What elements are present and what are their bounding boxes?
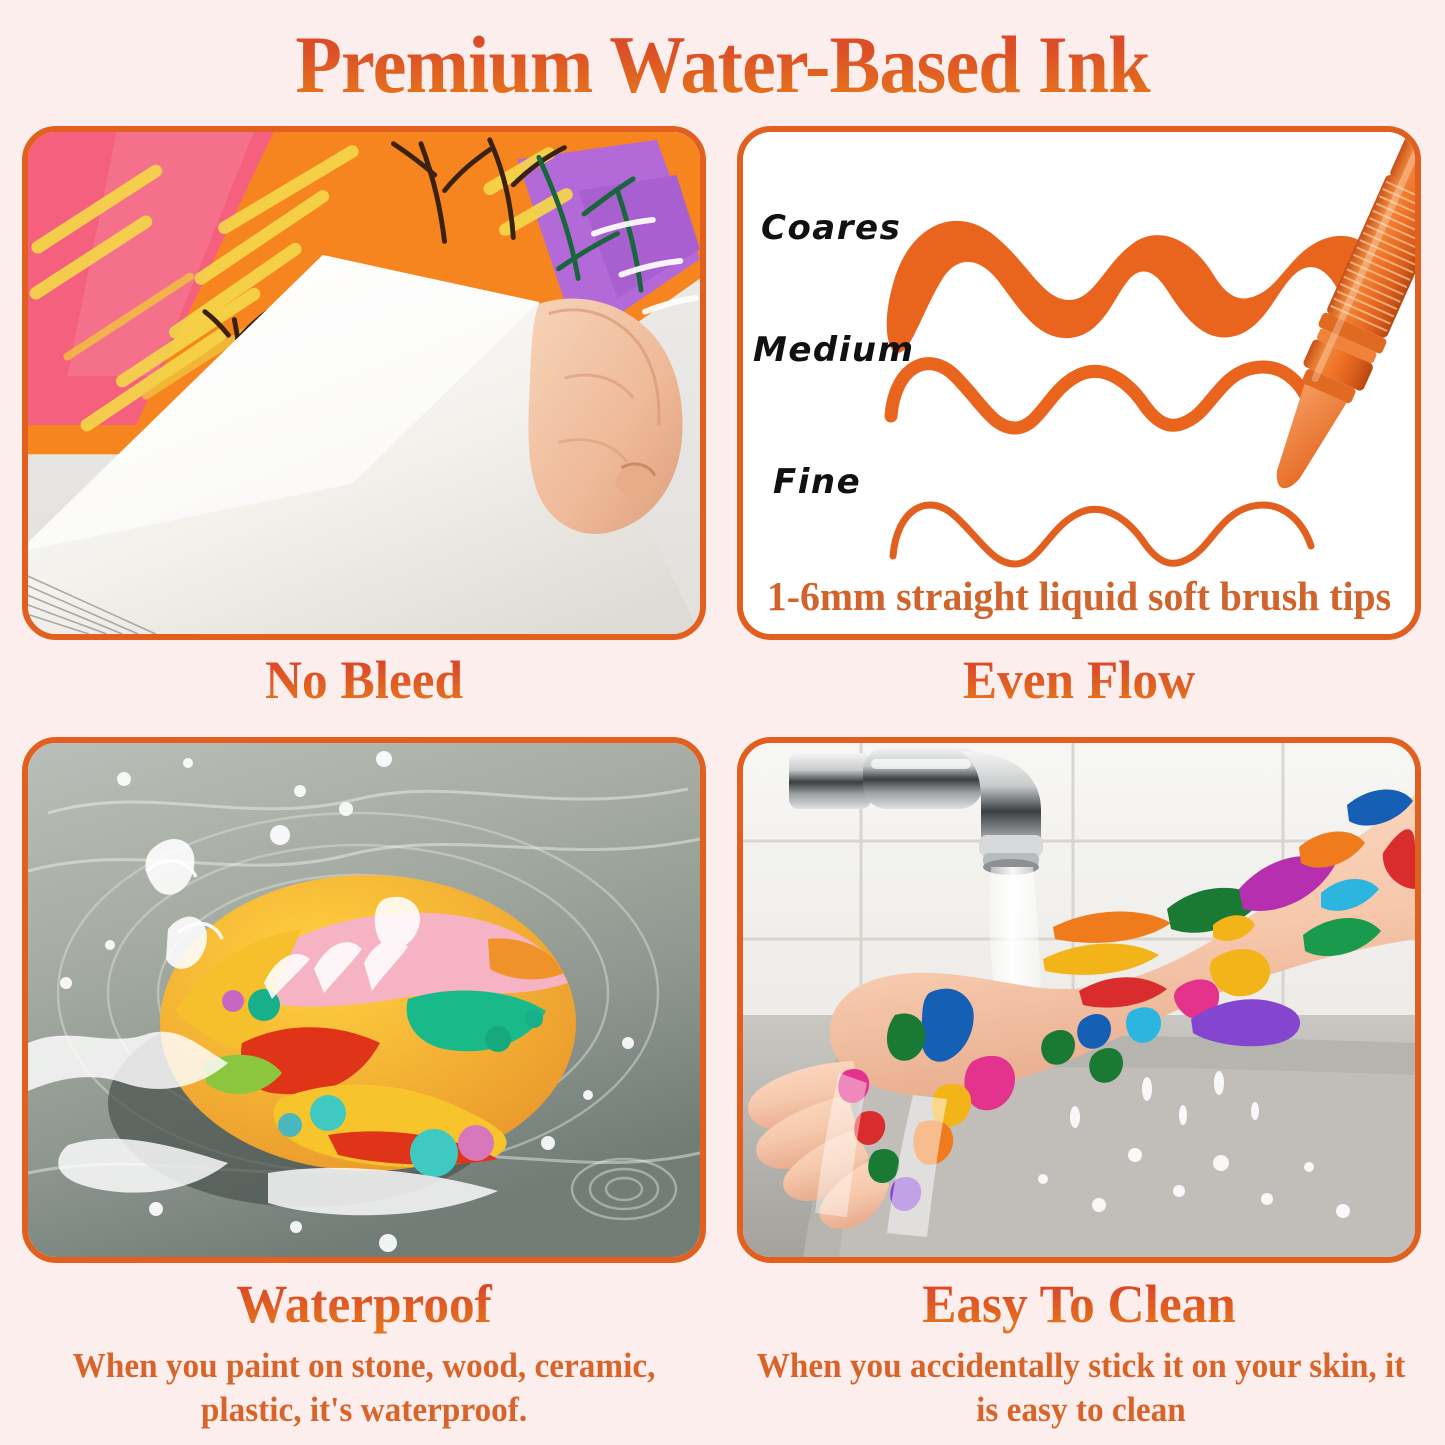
subcaption-waterproof: When you paint on stone, wood, ceramic, … (32, 1344, 697, 1432)
waterproof-illustration (28, 743, 700, 1257)
stroke-label-coares: Coares (761, 208, 901, 248)
stroke-label-medium: Medium (753, 330, 915, 370)
caption-even-flow: Even Flow (754, 648, 1404, 712)
image-panel-even-flow: Coares Medium Fine 1-6mm straight liquid… (737, 126, 1421, 640)
caption-easy-to-clean: Easy To Clean (754, 1272, 1404, 1336)
product-infographic: Premium Water-Based Ink (0, 0, 1445, 1445)
image-panel-no-bleed (22, 126, 706, 640)
brush-tip-note: 1-6mm straight liquid soft brush tips (753, 572, 1405, 620)
caption-no-bleed: No Bleed (39, 648, 689, 712)
no-bleed-illustration (28, 132, 700, 634)
caption-waterproof: Waterproof (39, 1272, 689, 1336)
stroke-label-fine: Fine (773, 462, 861, 502)
easy-to-clean-illustration (743, 743, 1415, 1257)
image-panel-waterproof (22, 737, 706, 1263)
page-title: Premium Water-Based Ink (51, 16, 1395, 114)
image-panel-easy-to-clean (737, 737, 1421, 1263)
subcaption-easy-to-clean: When you accidentally stick it on your s… (749, 1344, 1414, 1432)
